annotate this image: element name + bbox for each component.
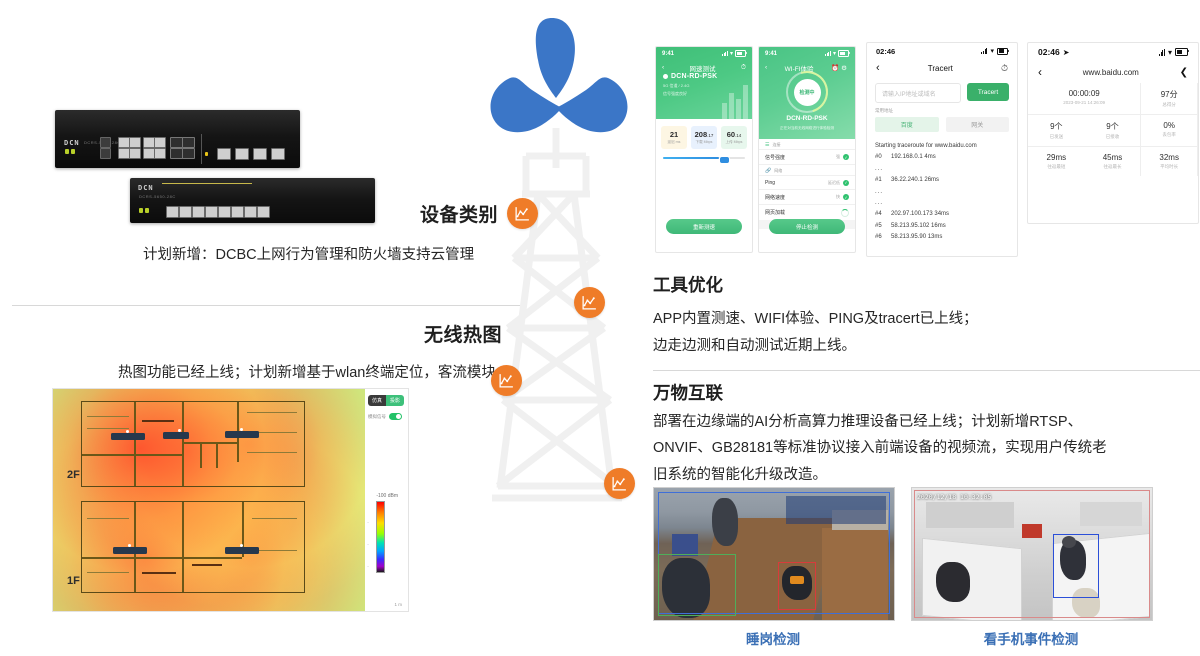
hop-text: 192.168.0.1 4ms (891, 152, 936, 163)
simulated-signal-label: 模拟信号 (368, 414, 386, 420)
check-icon: ✓ (843, 154, 849, 160)
section-body-iot-line3: 旧系统的智能化升级改造。 (653, 462, 1200, 489)
hop-text: 58.213.95.102 16ms (891, 221, 946, 232)
wifi-header: 9:41 ▾ ‹ WI-FI体验 ⏰⚙ 检测中 DCN-RD-PSK 正在对当前… (759, 47, 855, 139)
ap-marker[interactable] (113, 547, 147, 554)
metric-label: 已发送 (1030, 134, 1083, 140)
photo-caption-phone: 看手机事件检测 (911, 628, 1151, 648)
status-led (139, 208, 143, 213)
wifi-row-pageload[interactable]: 网页加载 (759, 204, 855, 220)
rj45-port (217, 148, 231, 160)
metric-value: 32ms (1143, 153, 1195, 162)
stats-row: 21 延迟 ms 208.17 下载 Mbps 60.14 上传 Mbps (656, 119, 752, 149)
ap-marker[interactable] (225, 547, 259, 554)
signal-icon (825, 51, 831, 56)
wifi-icon: ▾ (833, 50, 836, 57)
hop-index: #1 (875, 175, 886, 186)
metric-duration: 00:00:09 2023-09-21 14:26:09 (1028, 83, 1141, 115)
left-column: DCN DCRS-5650-28C DCN (0, 0, 520, 656)
status-time: 9:41 (662, 51, 674, 57)
row-label: 信号强度 (765, 154, 785, 161)
floor-label-2f: 2F (67, 469, 80, 481)
device-model-label: DCRS-5650-28C (139, 194, 176, 199)
stop-test-button[interactable]: 停止检测 (769, 219, 845, 234)
heatmap-panel[interactable]: 2F 1F (52, 388, 409, 612)
phone-tracert[interactable]: 02:46 ▾ ‹ Tracert ⏱ 请输入IP地址或域名 Tracert 常… (866, 42, 1018, 257)
toggle-option-simulation[interactable]: 仿真 (368, 395, 386, 406)
metric-rtt-avg: 32ms 平均时长 (1141, 147, 1198, 176)
status-bar: 02:46 ▾ (867, 43, 1017, 59)
hop-index: ... (875, 187, 886, 198)
metric-label: 平均时长 (1143, 164, 1195, 170)
line-chart-icon (498, 372, 515, 389)
rj45-port (235, 148, 249, 160)
row-value: 延迟低 (828, 180, 840, 186)
battery-icon (997, 48, 1008, 55)
metrics-grid: 00:00:09 2023-09-21 14:26:09 97分 总得分 9个 … (1028, 83, 1198, 176)
wifi-icon: ▾ (1168, 48, 1172, 57)
log-header: Starting traceroute for www.baidu.com (875, 141, 1009, 152)
status-time: 9:41 (765, 51, 777, 57)
phone-browser-metrics[interactable]: 02:46 ➤ ▾ ‹ www.baidu.com ❮ 00:00:09 202… (1027, 42, 1199, 224)
metric-sent: 9个 已发送 (1028, 115, 1085, 147)
rj45-port (257, 206, 270, 218)
wifi-dot-icon (663, 74, 668, 79)
device-photo-switch-bottom: DCN DCRS-5650-28C (130, 178, 375, 223)
rj45-port (231, 206, 244, 218)
metric-rtt-min: 29ms 往返最短 (1028, 147, 1085, 176)
ap-marker[interactable] (111, 433, 145, 440)
back-icon[interactable]: ‹ (662, 64, 664, 71)
wifi-row-signal[interactable]: 信号强度 强✓ (759, 149, 855, 164)
wifi-icon: ▾ (730, 50, 733, 57)
status-time: 02:46 (876, 47, 895, 56)
section-body-wireless-heatmap: 热图功能已经上线；计划新增基于wlan终端定位，客流模块 (118, 360, 496, 387)
section-title-tool-optimization: 工具优化 (653, 272, 1200, 297)
stat-card-download: 208.17 下载 Mbps (691, 126, 717, 149)
scale-note: 1 m (394, 602, 402, 607)
photo-phone-detection: 2020/12/18 10:32:05 (911, 487, 1153, 621)
slider-knob[interactable] (719, 156, 730, 164)
status-bar: 02:46 ➤ ▾ (1028, 43, 1198, 61)
hop-text: 202.97.100.173 34ms (891, 209, 949, 220)
stat-unit: .17 (707, 133, 713, 138)
detection-box-red (778, 562, 816, 610)
line-chart-icon (581, 294, 598, 311)
section-body-iot-line2: ONVIF、GB28181等标准协议接入前端设备的视频流，实现用户传统老 (653, 435, 1200, 462)
tracert-run-button[interactable]: Tracert (967, 83, 1009, 101)
line-chart-badge-3[interactable] (491, 365, 522, 396)
log-hop: #4202.97.100.173 34ms (875, 209, 1009, 220)
url-label: www.baidu.com (1042, 68, 1180, 77)
metric-label: 已接收 (1087, 134, 1139, 140)
loading-spinner-icon (841, 209, 849, 217)
tab-baidu[interactable]: 百度 (875, 117, 939, 132)
rj45-port (179, 206, 192, 218)
heatmap-canvas: 2F 1F (53, 389, 365, 611)
panel-line (162, 183, 252, 184)
rj45-port (154, 137, 166, 148)
metric-value: 45ms (1087, 153, 1139, 162)
status-led (65, 149, 69, 154)
legend-colorbar (376, 501, 385, 573)
scan-status-label: 检测中 (794, 79, 821, 106)
scan-progress-ring: 检测中 (786, 71, 828, 113)
stat-label: 下载 Mbps (692, 140, 716, 145)
hop-index: #5 (875, 221, 886, 232)
status-time: 02:46 (1038, 47, 1060, 57)
line-chart-badge-2[interactable] (574, 287, 605, 318)
nav-title: 网速测试 (690, 63, 716, 73)
metric-value: 97分 (1143, 89, 1195, 100)
back-icon[interactable]: ‹ (876, 62, 880, 74)
status-bar: 9:41 ▾ (656, 47, 752, 60)
status-led (145, 208, 149, 213)
ssid-sub-2: 信号强度良好 (663, 91, 687, 97)
rj45-port (205, 206, 218, 218)
log-hop: ... (875, 164, 1009, 175)
stat-value: 208 (695, 130, 708, 139)
rj45-port (192, 206, 205, 218)
rj45-port (271, 148, 285, 160)
metric-value: 9个 (1030, 121, 1083, 132)
stat-value: 60 (727, 130, 735, 139)
heatmap-view-toggle[interactable]: 仿真 投影 (368, 395, 404, 406)
ssid-sub-1: 5G 信道 / 2.4G (663, 83, 689, 89)
nav-bar: ‹ www.baidu.com ❮ (1028, 61, 1198, 83)
wifi-row-speed[interactable]: 网络速度 快✓ (759, 189, 855, 204)
stat-unit: .14 (735, 133, 741, 138)
line-chart-icon (611, 475, 628, 492)
signal-icon (722, 51, 728, 56)
speed-slider[interactable] (656, 149, 752, 159)
section-text: 网络 (774, 168, 782, 174)
row-label: 网页加载 (765, 209, 785, 216)
ssid-row: DCN-RD-PSK (663, 73, 717, 80)
metric-rtt-max: 45ms 往返最长 (1085, 147, 1142, 176)
hop-index: ... (875, 164, 886, 175)
slide-root: DCN DCRS-5650-28C DCN (0, 0, 1200, 656)
retest-button[interactable]: 重新测速 (666, 219, 742, 234)
nav-bar: ‹ Tracert ⏱ (867, 59, 1017, 77)
tracert-input[interactable]: 请输入IP地址或域名 (875, 83, 961, 103)
ssid-label: DCN-RD-PSK (759, 115, 855, 122)
sfp-slot (182, 148, 195, 159)
detection-box-frame (914, 490, 1150, 618)
device-photo-switch-top: DCN DCRS-5650-28C (55, 110, 300, 168)
location-arrow-icon: ➤ (1063, 48, 1070, 57)
row-value: 快 (836, 194, 840, 200)
stat-value: 21 (670, 130, 678, 139)
tower-graphic (470, 0, 655, 656)
hop-index: ... (875, 198, 886, 209)
status-bar: 9:41 ▾ (759, 47, 855, 60)
metric-label: 往返最短 (1030, 164, 1083, 170)
phone-speedtest[interactable]: 9:41 ▾ ‹ 网速测试 ⏱ DCN-RD-PSK 5G 信道 / 2.4G (655, 46, 753, 253)
petal-right-icon (556, 77, 627, 132)
photo-timestamp: 2020/12/18 10:32:05 (917, 493, 991, 501)
device-brand-label: DCN (64, 139, 80, 147)
battery-icon (735, 50, 746, 57)
status-led (71, 149, 75, 154)
photo-sleep-detection (653, 487, 895, 621)
hop-index: #4 (875, 209, 886, 220)
decorative-bars (722, 85, 748, 119)
line-chart-badge-1[interactable] (507, 198, 538, 229)
metric-received: 9个 已接收 (1085, 115, 1142, 147)
section-title-iot: 万物互联 (653, 380, 1200, 405)
nav-title: Tracert (928, 64, 953, 73)
divider-right (653, 370, 1200, 371)
simulated-signal-row[interactable]: 模拟信号 (368, 413, 402, 420)
metric-value: 29ms (1030, 153, 1083, 162)
wifi-icon: ▾ (990, 47, 994, 55)
legend-ticks: --- (367, 511, 368, 577)
log-hop: #0192.168.0.1 4ms (875, 152, 1009, 163)
quick-address-label: 常用地址 (867, 103, 1017, 117)
divider-left (12, 305, 520, 306)
battery-icon (838, 50, 849, 57)
metric-loss: 0% 丢包率 (1141, 115, 1198, 147)
rj45-port (244, 206, 257, 218)
speedtest-header: 9:41 ▾ ‹ 网速测试 ⏱ DCN-RD-PSK 5G 信道 / 2.4G (656, 47, 752, 119)
antenna-icon: ☰ (765, 142, 769, 148)
stat-label: 延迟 ms (662, 140, 686, 145)
stat-card-upload: 60.14 上传 Mbps (721, 126, 747, 149)
tab-gateway[interactable]: 网关 (946, 117, 1010, 132)
hop-index: #0 (875, 152, 886, 163)
sfp-slot (182, 137, 195, 148)
slider-fill (663, 157, 719, 159)
ap-marker[interactable] (163, 432, 189, 439)
share-icon[interactable]: ❮ (1180, 67, 1188, 78)
section-label-connection: ☰ 连接 (759, 139, 855, 149)
section-text: 连接 (772, 142, 780, 148)
floor-label-1f: 1F (67, 575, 80, 587)
console-port (100, 137, 111, 148)
floorplan-2f (81, 401, 305, 487)
back-icon[interactable]: ‹ (765, 64, 767, 71)
metric-value: 0% (1143, 121, 1195, 130)
row-label: Ping (765, 180, 775, 186)
simulated-signal-switch[interactable] (389, 413, 402, 420)
panel-divider (201, 134, 202, 164)
tracert-search-row: 请输入IP地址或域名 Tracert (867, 77, 1017, 103)
signal-icon (981, 48, 987, 54)
check-icon: ✓ (843, 194, 849, 200)
section-label-network: 🔗 网络 (759, 164, 855, 175)
line-chart-icon (514, 205, 531, 222)
tower-structure (492, 128, 622, 498)
section-body-tool-optimization-line2: 边走边测和自动测试近期上线。 (653, 333, 1200, 360)
scan-note: 正在对当前无线网络进行体验检测 (759, 126, 855, 131)
rj45-port (218, 206, 231, 218)
rj45-port (253, 148, 267, 160)
section-body-tool-optimization-line1: APP内置测速、WIFI体验、PING及tracert已上线； (653, 306, 1200, 333)
status-led (205, 152, 208, 156)
hop-text: 36.22.240.1 26ms (891, 175, 939, 186)
hop-index: #6 (875, 232, 886, 243)
battery-icon (1175, 48, 1188, 56)
log-hop: #658.213.95.90 13ms (875, 232, 1009, 243)
ssid-label: DCN-RD-PSK (671, 73, 717, 80)
log-hop: #136.22.240.1 26ms (875, 175, 1009, 186)
line-chart-badge-4[interactable] (604, 468, 635, 499)
phone-wifi-experience[interactable]: 9:41 ▾ ‹ WI-FI体验 ⏰⚙ 检测中 DCN-RD-PSK 正在对当前… (758, 46, 856, 253)
metric-value: 00:00:09 (1030, 89, 1138, 98)
metric-label: 2023-09-21 14:26:09 (1030, 100, 1138, 105)
log-hop: ... (875, 198, 1009, 209)
metric-label: 往返最长 (1087, 164, 1139, 170)
section-body-iot-line1: 部署在边缘端的AI分析高算力推理设备已经上线；计划新增RTSP、 (653, 409, 1200, 436)
row-label: 网络速度 (765, 194, 785, 201)
petal-center-icon (536, 18, 575, 98)
log-hop: #558.213.95.102 16ms (875, 221, 1009, 232)
metric-label: 总得分 (1143, 102, 1195, 108)
check-icon: ✓ (843, 180, 849, 186)
signal-icon (1159, 49, 1165, 56)
device-brand-label: DCN (138, 184, 154, 192)
metric-score: 97分 总得分 (1141, 83, 1198, 115)
stat-card-latency: 21 延迟 ms (661, 126, 687, 149)
rj45-port (129, 137, 141, 148)
wifi-row-ping[interactable]: Ping 延迟低✓ (759, 175, 855, 189)
settings-icons[interactable]: ⏰⚙ (831, 64, 849, 72)
rj45-port (129, 148, 141, 159)
console-port (100, 148, 111, 159)
metric-label: 丢包率 (1143, 132, 1195, 138)
detection-box-green (658, 554, 736, 616)
tracert-log: Starting traceroute for www.baidu.com #0… (867, 132, 1017, 244)
signal-petals (491, 18, 628, 132)
row-value: 强 (836, 154, 840, 160)
photo-caption-sleep: 睡岗检测 (653, 628, 893, 648)
history-icon[interactable]: ⏱ (1001, 63, 1008, 74)
heatmap-legend: -100 dBm --- (376, 493, 398, 573)
section-body-device-category: 计划新增：DCBC上网行为管理和防火墙支持云管理 (143, 242, 474, 269)
history-icon[interactable]: ⏱ (741, 64, 746, 72)
ap-marker[interactable] (225, 431, 259, 438)
log-hop: ... (875, 187, 1009, 198)
tower-svg (470, 8, 655, 538)
legend-max-label: -100 dBm (376, 493, 398, 499)
rj45-port (154, 148, 166, 159)
link-icon: 🔗 (765, 168, 771, 174)
quick-address-tabs: 百度 网关 (867, 117, 1017, 132)
heatmap-sidebar: 仿真 投影 模拟信号 -100 dBm --- 1 m (365, 389, 408, 611)
right-column: 工具优化 APP内置测速、WIFI体验、PING及tracert已上线； 边走边… (653, 272, 1200, 489)
metric-value: 9个 (1087, 121, 1139, 132)
slider-track (663, 157, 745, 159)
stat-label: 上传 Mbps (722, 140, 746, 145)
toggle-option-projection[interactable]: 投影 (386, 395, 404, 406)
rj45-port (166, 206, 179, 218)
hop-text: 58.213.95.90 13ms (891, 232, 942, 243)
